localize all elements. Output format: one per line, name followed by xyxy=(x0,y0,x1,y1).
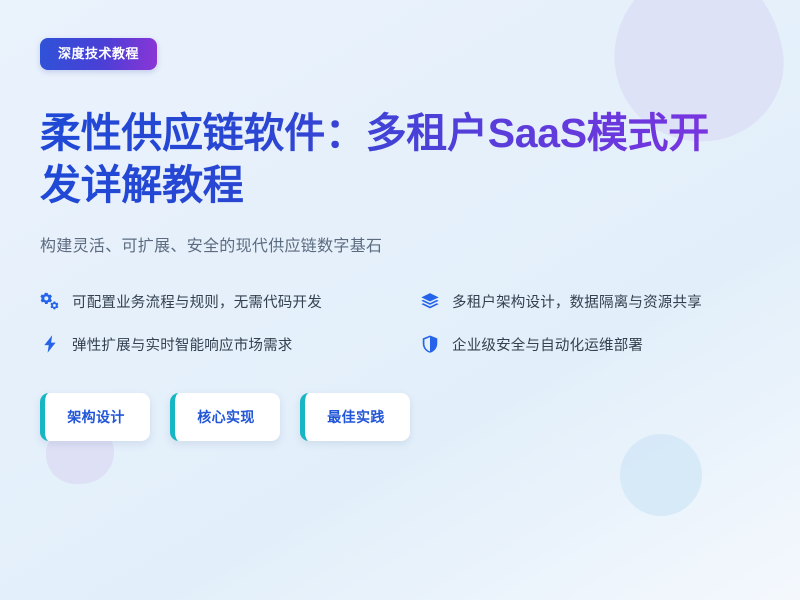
chip-core-implementation[interactable]: 核心实现 xyxy=(170,393,280,441)
feature-item-multi-tenant-architecture: 多租户架构设计，数据隔离与资源共享 xyxy=(420,291,760,312)
feature-label: 可配置业务流程与规则，无需代码开发 xyxy=(72,291,322,312)
layers-icon xyxy=(420,291,440,311)
feature-item-elastic-scaling: 弹性扩展与实时智能响应市场需求 xyxy=(40,334,420,355)
chip-architecture-design[interactable]: 架构设计 xyxy=(40,393,150,441)
feature-item-configurable-workflow: 可配置业务流程与规则，无需代码开发 xyxy=(40,291,420,312)
chip-label: 架构设计 xyxy=(67,409,125,425)
feature-label: 企业级安全与自动化运维部署 xyxy=(452,334,643,355)
section-chip-list: 架构设计 核心实现 最佳实践 xyxy=(40,393,760,441)
feature-item-enterprise-security: 企业级安全与自动化运维部署 xyxy=(420,334,760,355)
shield-icon xyxy=(420,334,440,354)
lightning-icon xyxy=(40,334,60,354)
chip-best-practices[interactable]: 最佳实践 xyxy=(300,393,410,441)
cogs-icon xyxy=(40,291,60,311)
feature-label: 弹性扩展与实时智能响应市场需求 xyxy=(72,334,293,355)
chip-label: 核心实现 xyxy=(197,409,255,425)
decorative-circle-bottom-right xyxy=(620,434,702,516)
hero-banner: 深度技术教程 柔性供应链软件：多租户SaaS模式开发详解教程 构建灵活、可扩展、… xyxy=(0,0,800,600)
page-title: 柔性供应链软件：多租户SaaS模式开发详解教程 xyxy=(40,107,740,212)
hero-content: 深度技术教程 柔性供应链软件：多租户SaaS模式开发详解教程 构建灵活、可扩展、… xyxy=(0,0,800,441)
feature-label: 多租户架构设计，数据隔离与资源共享 xyxy=(452,291,702,312)
feature-list: 可配置业务流程与规则，无需代码开发 多租户架构设计，数据隔离与资源共享 xyxy=(40,291,760,355)
chip-label: 最佳实践 xyxy=(327,409,385,425)
page-subtitle: 构建灵活、可扩展、安全的现代供应链数字基石 xyxy=(40,232,760,256)
tutorial-badge: 深度技术教程 xyxy=(40,38,157,70)
